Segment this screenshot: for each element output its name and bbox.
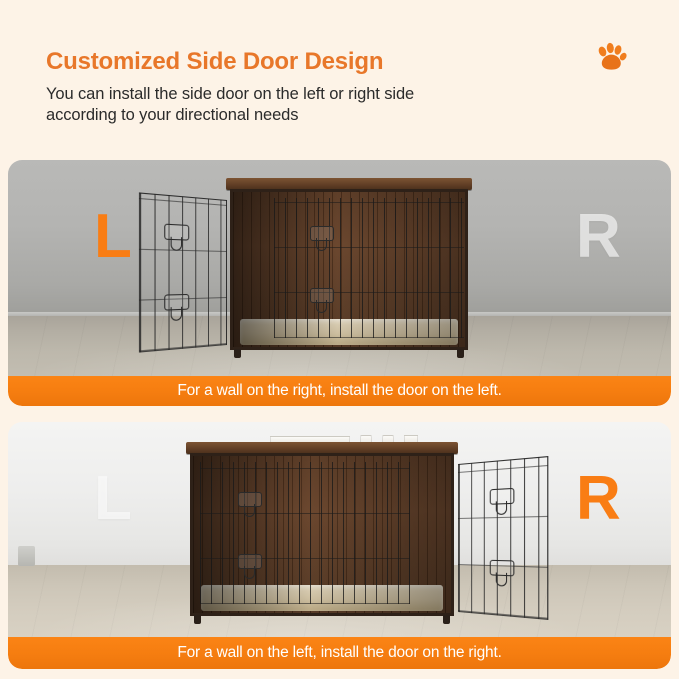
crate-wire-mesh-front <box>274 198 464 338</box>
panel-left-door: L R For a wall on the right, i <box>8 160 671 406</box>
door-latch-upper <box>164 224 189 241</box>
page-title: Customized Side Door Design <box>46 48 383 76</box>
panel-right-door: L R For a wall on the left, install <box>8 422 671 669</box>
door-latch-lower <box>490 560 515 577</box>
door-latch-upper <box>490 488 515 505</box>
page-subtitle: You can install the side door on the lef… <box>46 84 414 126</box>
caption-left-door: For a wall on the right, install the doo… <box>8 376 671 406</box>
letter-marker-right: R <box>576 206 621 268</box>
crate-latch-upper <box>238 492 262 507</box>
dog-crate-furniture <box>226 178 472 358</box>
crate-latch-lower <box>238 554 262 569</box>
scene-floor-object <box>18 546 35 566</box>
wire-side-door-open-right <box>458 456 548 620</box>
product-photo-right-door: L R <box>8 422 671 637</box>
crate-latch-upper <box>310 226 334 241</box>
wire-side-door-open-left <box>139 192 227 352</box>
paw-print-icon <box>593 40 629 76</box>
crate-latch-lower <box>310 288 334 303</box>
crate-legs <box>190 615 454 624</box>
door-latch-lower <box>164 294 189 311</box>
dog-crate-furniture <box>186 442 458 624</box>
crate-wire-mesh-front <box>200 462 410 604</box>
header: Customized Side Door Design You can inst… <box>0 0 679 160</box>
letter-marker-left: L <box>94 206 132 268</box>
letter-marker-right: R <box>576 468 621 530</box>
crate-legs <box>230 349 468 358</box>
caption-right-door: For a wall on the left, install the door… <box>8 637 671 669</box>
product-photo-left-door: L R <box>8 160 671 376</box>
letter-marker-left: L <box>94 468 132 530</box>
